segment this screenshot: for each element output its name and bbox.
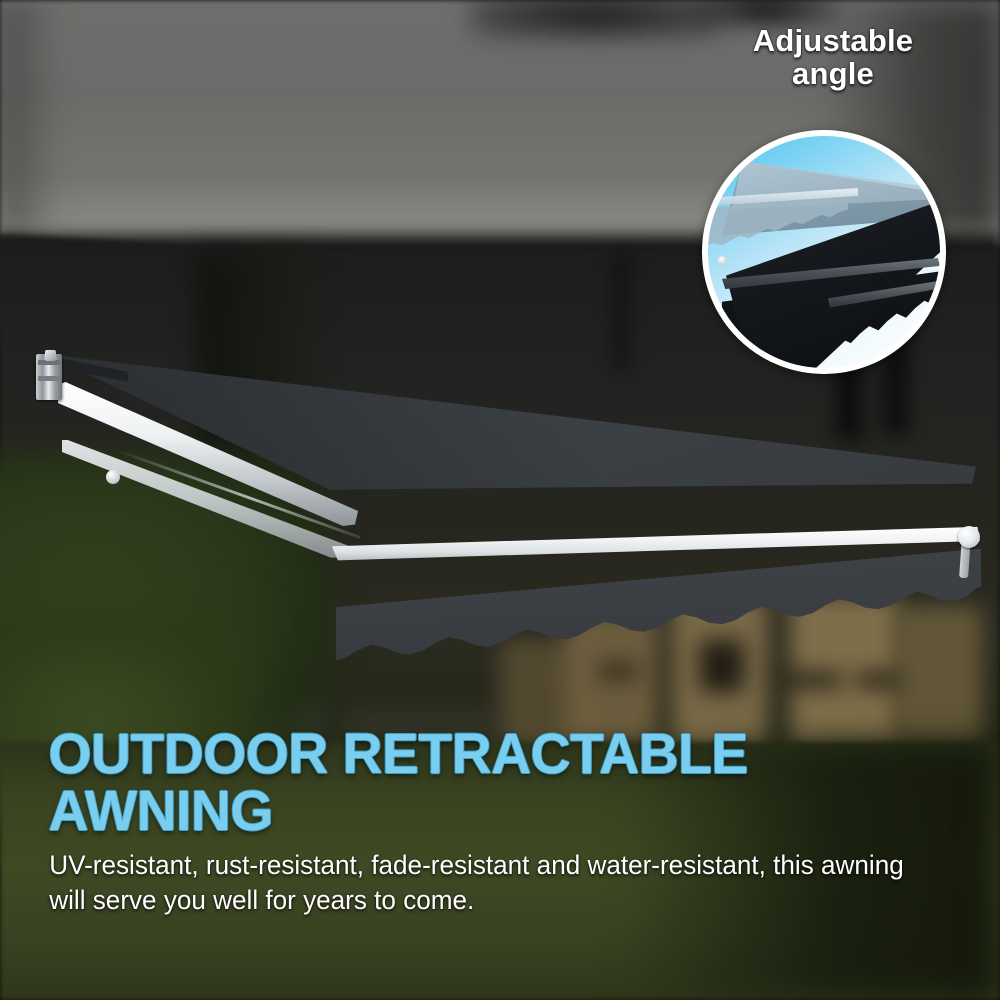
body-copy: UV-resistant, rust-resistant, fade-resis… (0, 848, 985, 918)
solid-awning-pivot-point (718, 256, 727, 265)
background-window (470, 0, 720, 36)
valance-highlight (332, 546, 982, 676)
callout-title: Adjustable angle (688, 24, 978, 91)
marketing-copy: OUTDOOR RETRACTABLE AWNING UV-resistant,… (0, 726, 1000, 918)
bracket-adjust-knob (45, 350, 56, 361)
circle-inset-icon (702, 130, 946, 374)
callout-title-line-1: Adjustable (753, 23, 913, 58)
adjustable-angle-callout: Adjustable angle (688, 24, 978, 364)
marketing-banner: Adjustable angle OUTDOOR RETRACTABLE AWN… (0, 0, 1000, 1000)
callout-title-line-2: angle (792, 56, 874, 91)
background-wall-shadow-left (0, 0, 60, 246)
bracket-bolt (38, 376, 60, 381)
support-arm-joint (106, 470, 120, 484)
folding-support-arm (58, 382, 358, 532)
outdoor-retractable-awning (0, 330, 1000, 690)
bar-end-cap (958, 526, 980, 548)
circle-inset-content (708, 136, 940, 368)
page-title: OUTDOOR RETRACTABLE AWNING (0, 726, 970, 840)
